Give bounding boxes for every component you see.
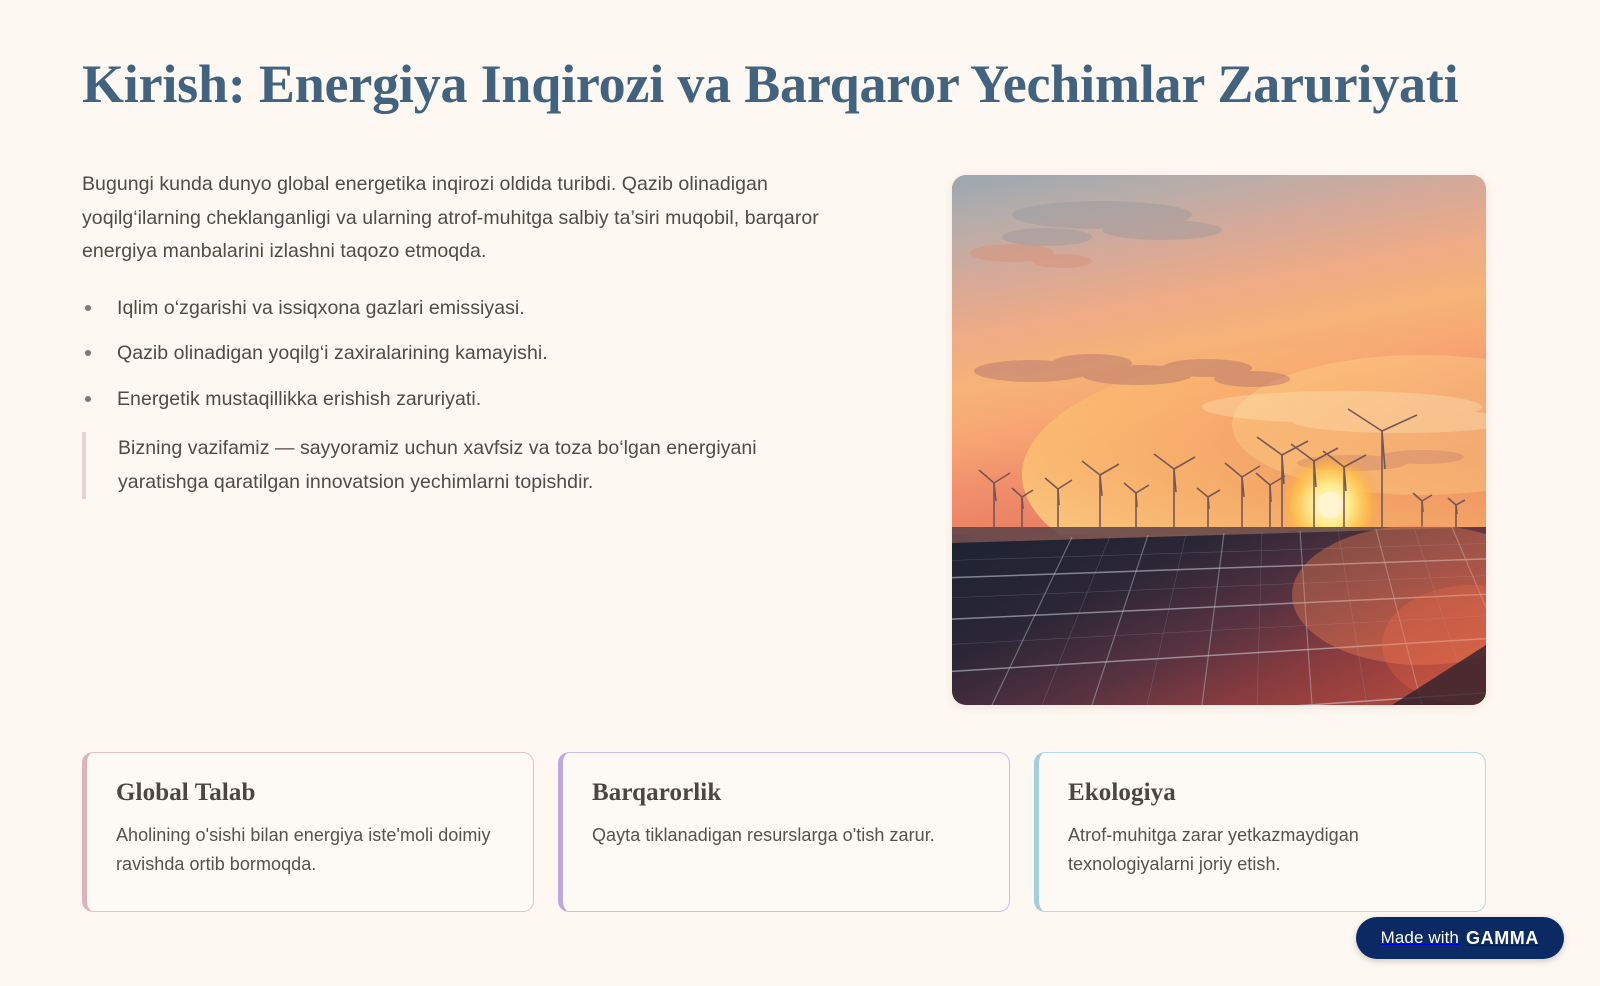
mission-quote: Bizning vazifamiz — sayyoramiz uchun xav…	[82, 432, 842, 499]
card-body: Atrof-muhitga zarar yetkazmaydigan texno…	[1068, 821, 1455, 879]
list-item: Energetik mustaqillikka erishish zaruriy…	[82, 385, 872, 414]
mission-quote-text: Bizning vazifamiz — sayyoramiz uchun xav…	[118, 437, 757, 493]
card-title: Ekologiya	[1068, 779, 1455, 807]
summary-card-ekologiya[interactable]: Ekologiya Atrof-muhitga zarar yetkazmayd…	[1034, 752, 1486, 912]
page-title: Kirish: Energiya Inqirozi va Barqaror Ye…	[82, 54, 1502, 116]
badge-prefix-label: Made with	[1381, 928, 1459, 948]
card-body: Qayta tiklanadigan resurslarga o'tish za…	[592, 821, 979, 850]
card-body: Aholining o'sishi bilan energiya iste'mo…	[116, 821, 503, 879]
intro-paragraph: Bugungi kunda dunyo global energetika in…	[82, 168, 854, 269]
card-title: Barqarorlik	[592, 779, 979, 807]
renewable-energy-image	[952, 175, 1486, 705]
main-content-area: Bugungi kunda dunyo global energetika in…	[82, 168, 1486, 713]
badge-brand-label: GAMMA	[1466, 928, 1539, 949]
bullet-dot-icon	[85, 350, 91, 356]
slide-root: Kirish: Energiya Inqirozi va Barqaror Ye…	[0, 0, 1600, 986]
summary-card-global-talab[interactable]: Global Talab Aholining o'sishi bilan ene…	[82, 752, 534, 912]
list-item-label: Qazib olinadigan yoqilg‘i zaxiralarining…	[117, 342, 548, 364]
sunset-energy-illustration	[952, 175, 1486, 705]
list-item: Iqlim o‘zgarishi va issiqxona gazlari em…	[82, 294, 872, 323]
list-item-label: Energetik mustaqillikka erishish zaruriy…	[117, 388, 481, 410]
summary-cards-row: Global Talab Aholining o'sishi bilan ene…	[82, 752, 1486, 912]
summary-card-barqarorlik[interactable]: Barqarorlik Qayta tiklanadigan resurslar…	[558, 752, 1010, 912]
bullet-dot-icon	[85, 305, 91, 311]
left-text-column: Bugungi kunda dunyo global energetika in…	[82, 168, 872, 499]
bullet-dot-icon	[85, 396, 91, 402]
key-points-list: Iqlim o‘zgarishi va issiqxona gazlari em…	[82, 294, 872, 414]
list-item-label: Iqlim o‘zgarishi va issiqxona gazlari em…	[117, 297, 525, 319]
list-item: Qazib olinadigan yoqilg‘i zaxiralarining…	[82, 339, 872, 368]
made-with-gamma-badge[interactable]: Made with GAMMA	[1356, 917, 1564, 959]
card-title: Global Talab	[116, 779, 503, 807]
